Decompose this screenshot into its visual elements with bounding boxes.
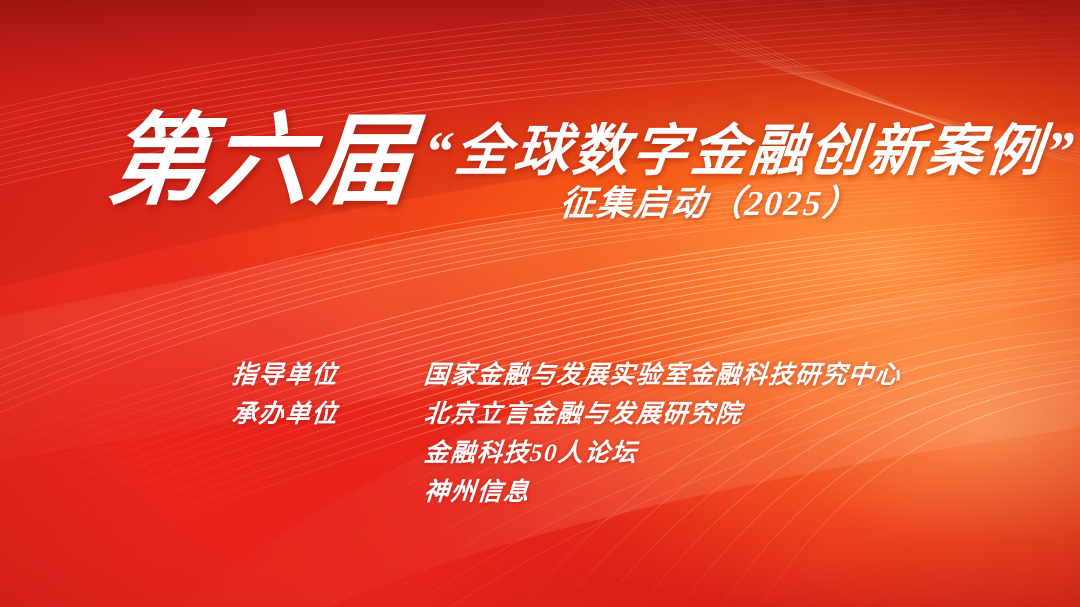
background-vignette — [0, 0, 1080, 607]
credit-value-shenzhou: 神州信息 — [423, 479, 902, 507]
credit-value-guidance: 国家金融与发展实验室金融科技研究中心 — [423, 362, 902, 390]
main-headline: “全球数字金融创新案例” — [421, 124, 1079, 180]
credit-value-organizer: 北京立言金融与发展研究院 — [423, 401, 902, 429]
credit-value-forum: 金融科技50人论坛 — [423, 440, 902, 468]
credit-label-organizer: 承办单位 — [231, 401, 425, 429]
edition-title: 第六届 — [104, 112, 419, 212]
poster-canvas: 第六届 “全球数字金融创新案例” 征集启动（2025） 指导单位 国家金融与发展… — [0, 0, 1080, 607]
subtitle-launch-year: 征集启动（2025） — [558, 186, 862, 221]
credit-label-spacer-2 — [232, 479, 424, 507]
credit-label-guidance: 指导单位 — [231, 362, 425, 390]
credits-block: 指导单位 国家金融与发展实验室金融科技研究中心 承办单位 北京立言金融与发展研究… — [232, 362, 901, 507]
credit-label-spacer-1 — [232, 440, 424, 468]
